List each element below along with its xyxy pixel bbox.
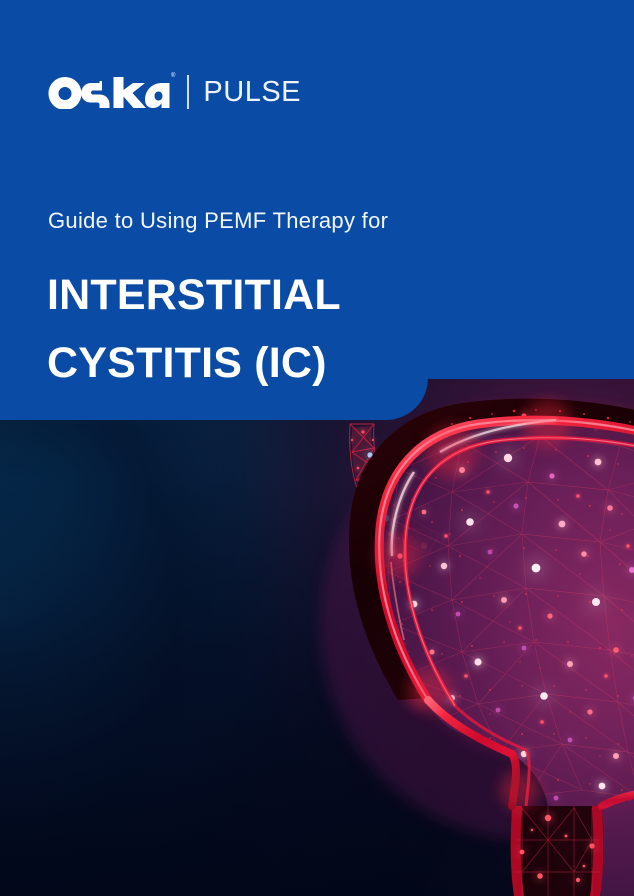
page-title-line-1: INTERSTITIAL xyxy=(47,261,341,329)
logo-product-name: PULSE xyxy=(203,78,301,107)
cover-page: ® PULSE Guide to Using PEMF Therapy for … xyxy=(0,0,634,896)
page-title: INTERSTITIAL CYSTITIS (IC) xyxy=(47,261,341,397)
page-title-line-2: CYSTITIS (IC) xyxy=(47,329,341,397)
cover-subtitle: Guide to Using PEMF Therapy for xyxy=(48,208,388,234)
oska-wordmark-icon xyxy=(48,75,170,109)
registered-trademark-icon: ® xyxy=(171,73,175,79)
logo-divider-icon xyxy=(187,75,189,109)
oska-pulse-logo: ® PULSE xyxy=(48,70,301,114)
urethra-neck xyxy=(511,806,604,896)
